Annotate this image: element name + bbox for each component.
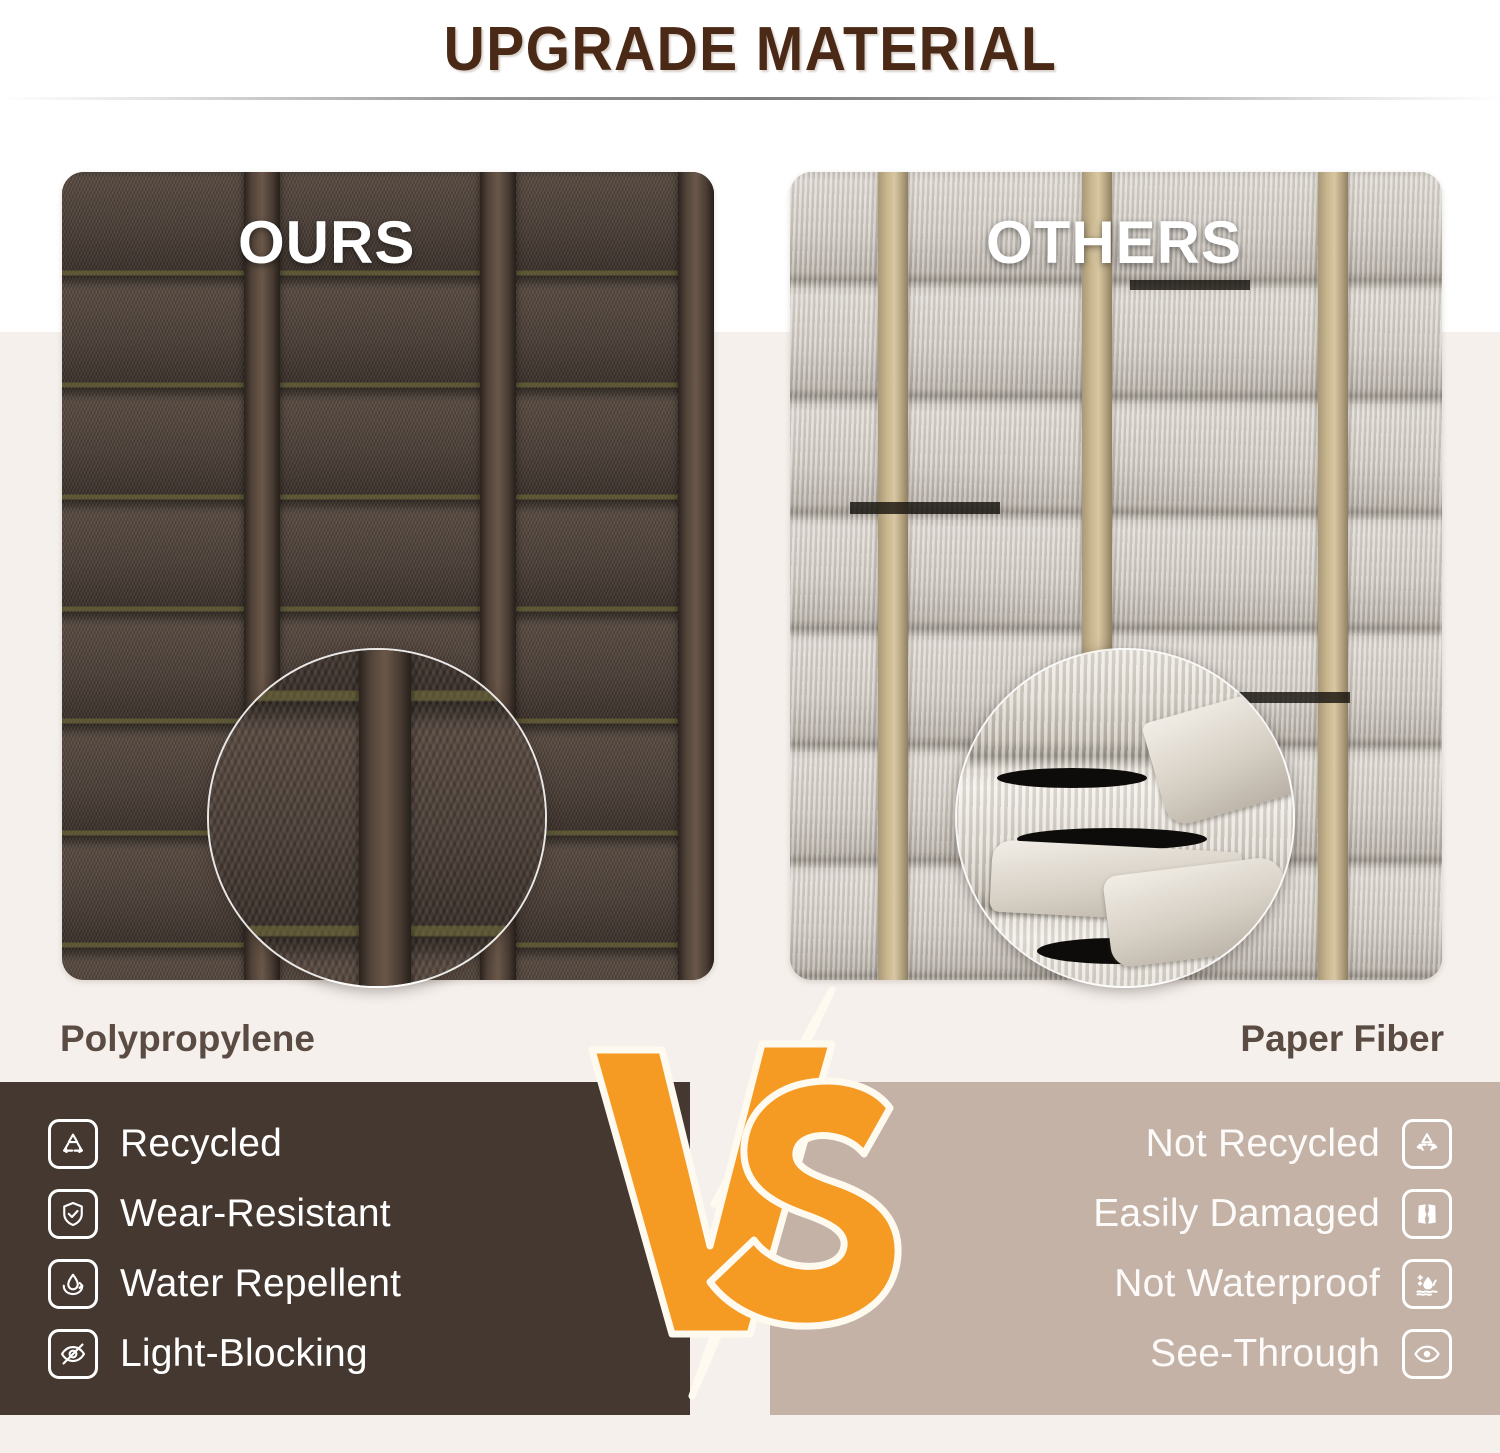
others-magnifier-circle	[955, 648, 1295, 988]
feature-label: Not Waterproof	[1114, 1262, 1380, 1306]
feature-row-not-recycled[interactable]: Not Recycled	[1146, 1119, 1452, 1169]
feature-label: Wear-Resistant	[120, 1192, 391, 1236]
eye-icon	[1402, 1329, 1452, 1379]
feature-row-wear-resistant[interactable]: Wear-Resistant	[48, 1189, 391, 1239]
ours-material-name: Polypropylene	[60, 1018, 315, 1060]
feature-row-light-blocking[interactable]: Light-Blocking	[48, 1329, 368, 1379]
ours-photo-label: OURS	[238, 208, 415, 277]
feature-label: Recycled	[120, 1122, 282, 1166]
feature-label: Not Recycled	[1146, 1122, 1380, 1166]
shield-check-icon	[48, 1189, 98, 1239]
torn-paper-icon	[1402, 1189, 1452, 1239]
fiber-tear	[997, 768, 1147, 788]
ours-magnifier-circle	[207, 648, 547, 988]
recycle-icon	[48, 1119, 98, 1169]
vertical-strap	[678, 172, 714, 980]
feature-row-water-repellent[interactable]: Water Repellent	[48, 1259, 401, 1309]
feature-label: See-Through	[1150, 1332, 1380, 1376]
title-divider	[0, 97, 1500, 100]
weave-gap	[850, 502, 1000, 514]
feature-label: Water Repellent	[120, 1262, 401, 1306]
water-damage-icon	[1402, 1259, 1452, 1309]
feature-row-not-waterproof[interactable]: Not Waterproof	[1114, 1259, 1452, 1309]
vertical-strap-zoom	[359, 650, 411, 986]
feature-label: Easily Damaged	[1093, 1192, 1380, 1236]
broken-recycle-icon	[1402, 1119, 1452, 1169]
others-feature-list: Not Recycled Easily Damaged	[770, 1082, 1500, 1415]
vertical-strap	[1318, 172, 1348, 980]
ours-feature-list: Recycled Wear-Resistant Water Repellent	[0, 1082, 690, 1415]
water-droplet-repel-icon	[48, 1259, 98, 1309]
feature-row-recycled[interactable]: Recycled	[48, 1119, 282, 1169]
vertical-strap	[878, 172, 908, 980]
feature-row-see-through[interactable]: See-Through	[1150, 1329, 1452, 1379]
title-bar: UPGRADE MATERIAL	[0, 0, 1500, 98]
infographic-root: UPGRADE MATERIAL OURS OTHERS Polyprop	[0, 0, 1500, 1453]
page-title: UPGRADE MATERIAL	[443, 14, 1057, 85]
eye-off-icon	[48, 1329, 98, 1379]
feature-row-easily-damaged[interactable]: Easily Damaged	[1093, 1189, 1452, 1239]
others-photo-label: OTHERS	[986, 208, 1242, 277]
feature-label: Light-Blocking	[120, 1332, 368, 1376]
weave-gap	[1130, 280, 1250, 290]
others-material-name: Paper Fiber	[1240, 1018, 1444, 1060]
